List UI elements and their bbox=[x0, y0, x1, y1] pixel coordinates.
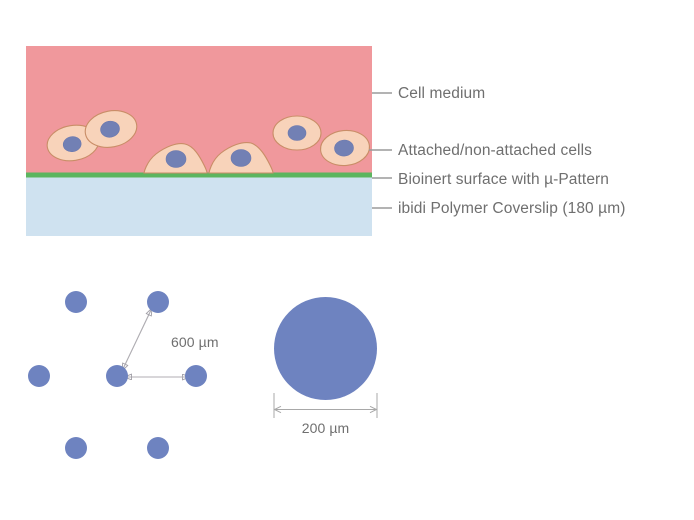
figure-root: Cell medium Attached/non-attached cells … bbox=[0, 0, 694, 520]
spacing-line-diagonal-2 bbox=[122, 308, 152, 371]
schematic-figure: Cell medium Attached/non-attached cells … bbox=[0, 0, 694, 520]
cell-5 bbox=[273, 116, 321, 150]
pattern-dot bbox=[65, 291, 87, 313]
pattern-dot bbox=[147, 291, 169, 313]
spot-detail-panel: 200 µm bbox=[274, 297, 377, 436]
pattern-dot bbox=[28, 365, 50, 387]
pattern-dot bbox=[185, 365, 207, 387]
cross-section-panel: Cell medium Attached/non-attached cells … bbox=[26, 46, 625, 236]
label-diameter-200um: 200 µm bbox=[302, 420, 350, 436]
label-attached-cells: Attached/non-attached cells bbox=[398, 142, 592, 159]
pattern-map-panel: 600 µm bbox=[28, 291, 219, 459]
pattern-dot bbox=[106, 365, 128, 387]
pattern-dot bbox=[65, 437, 87, 459]
label-coverslip: ibidi Polymer Coverslip (180 µm) bbox=[398, 200, 625, 217]
label-spacing-600um: 600 µm bbox=[171, 334, 219, 350]
pattern-dot bbox=[147, 437, 169, 459]
label-cell-medium: Cell medium bbox=[398, 85, 485, 102]
label-bioinert-surface: Bioinert surface with µ-Pattern bbox=[398, 171, 609, 188]
layer-coverslip bbox=[26, 176, 372, 236]
pattern-spot-circle bbox=[274, 297, 377, 400]
